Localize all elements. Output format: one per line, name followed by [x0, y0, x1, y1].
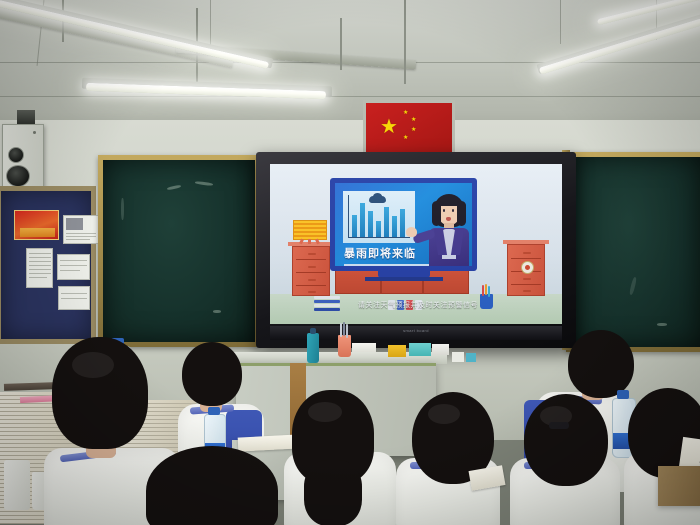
dresser-left — [292, 246, 330, 296]
student-desk-right — [658, 466, 700, 506]
student-right-back-head — [568, 330, 634, 398]
chart-y-axis — [348, 195, 349, 237]
chart-bar — [392, 216, 397, 237]
classroom-scene: ★ ★ ★ ★ ★ — [0, 0, 700, 525]
paper-stack — [352, 343, 376, 352]
wall-ledge-item — [466, 353, 476, 362]
slide-tv-base — [365, 277, 443, 281]
bulletin-board — [0, 186, 96, 344]
light-hanger — [404, 0, 406, 84]
slide-subtitle: 请关注天气预报并及时关注预警信号 — [348, 300, 488, 310]
chart-bar — [368, 211, 373, 237]
wall-clock-emblem-icon — [521, 261, 534, 274]
teal-box — [409, 343, 431, 356]
bottle-cap — [617, 390, 629, 399]
hair-highlight — [308, 402, 342, 422]
smart-tv-display[interactable]: 暴雨即将来临 — [256, 152, 576, 348]
weather-bar-chart — [343, 191, 415, 243]
eyeglasses-icon — [549, 422, 569, 429]
chart-x-axis — [348, 237, 410, 238]
chart-bar — [400, 209, 405, 237]
tv-brand-label: smart board — [403, 328, 429, 333]
white-thermos — [4, 460, 30, 510]
slide-headline: 暴雨即将来临 — [344, 245, 416, 261]
light-hanger — [340, 18, 342, 70]
bulletin-paper — [63, 215, 99, 244]
bulletin-paper — [26, 248, 53, 288]
hair-highlight — [72, 352, 114, 378]
hair-highlight — [428, 404, 460, 424]
chart-bar — [360, 203, 365, 237]
speaker-mount — [17, 110, 35, 124]
bulletin-poster — [14, 210, 59, 240]
slide-tv-screen: 暴雨即将来临 — [330, 178, 477, 271]
china-flag: ★ ★ ★ ★ ★ — [363, 100, 455, 156]
chart-bar — [384, 207, 389, 237]
bulletin-paper — [57, 254, 90, 280]
lamp-leg — [308, 239, 311, 244]
blackboard-right — [566, 152, 700, 352]
bottle-cap — [208, 407, 220, 415]
rain-cloud-icon — [369, 196, 386, 203]
student-center-left-head — [182, 342, 242, 406]
wall-speaker — [2, 124, 44, 188]
slide-book-stack — [314, 296, 340, 310]
presenter-hand — [406, 227, 417, 237]
flag-small-star: ★ — [411, 127, 416, 133]
chart-bar — [352, 215, 357, 237]
bulletin-paper — [58, 286, 90, 310]
chart-bar — [376, 221, 381, 237]
flag-big-star: ★ — [380, 117, 398, 137]
blackboard-left — [98, 155, 260, 347]
lamp-shade-icon — [293, 220, 327, 240]
white-box — [432, 344, 449, 355]
wall-ledge-item — [452, 352, 464, 362]
student-ponytail — [304, 460, 362, 525]
flag-small-star: ★ — [403, 110, 408, 116]
dresser-right — [507, 244, 545, 296]
pen-cup — [338, 335, 351, 357]
yellow-box — [388, 345, 406, 357]
flag-small-star: ★ — [403, 135, 408, 141]
news-presenter — [423, 194, 475, 271]
tv-screen[interactable]: 暴雨即将来临 — [270, 164, 562, 324]
teal-water-bottle — [307, 333, 319, 363]
flag-small-star: ★ — [411, 117, 416, 123]
